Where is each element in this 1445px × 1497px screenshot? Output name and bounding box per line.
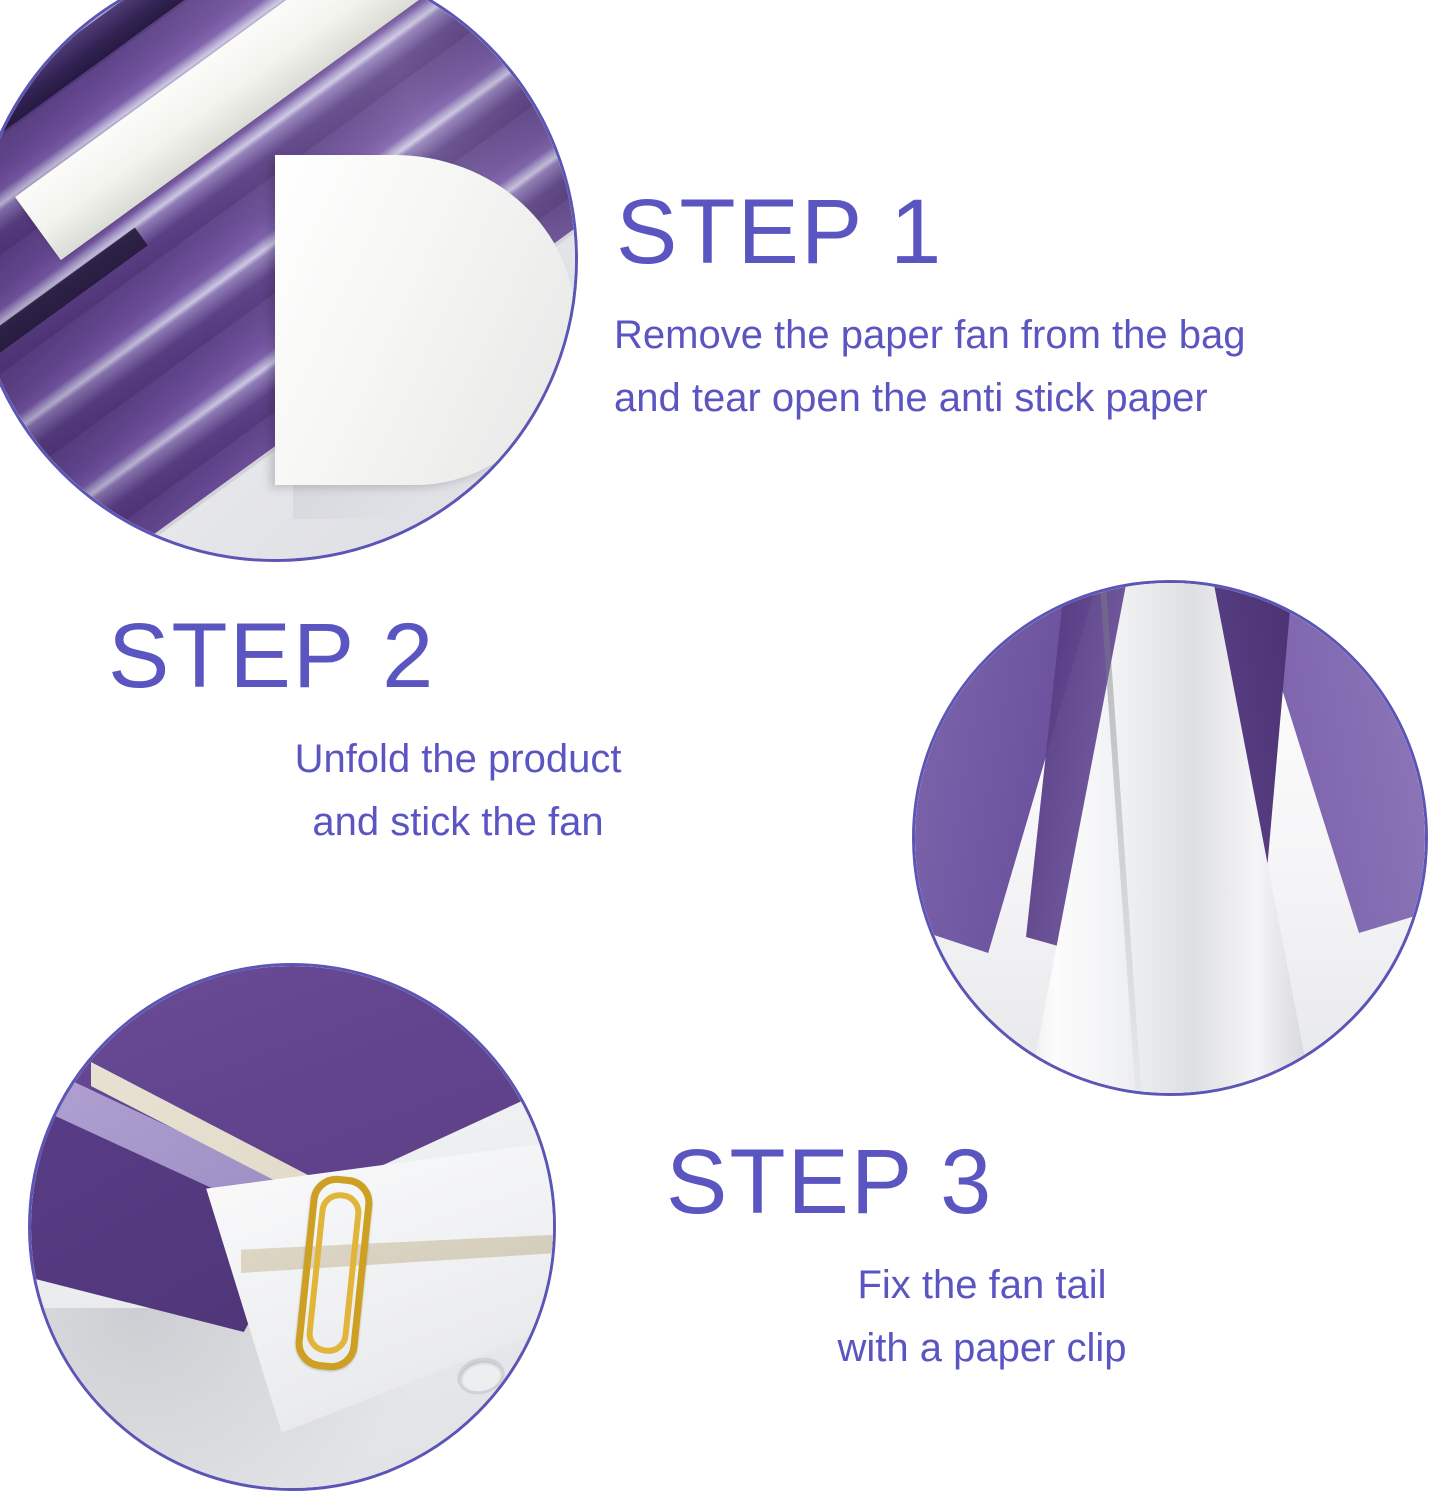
step-1-text-block: STEP 1 Remove the paper fan from the bag… bbox=[614, 186, 1245, 430]
step-2-text-block: STEP 2 Unfold the product and stick the … bbox=[108, 610, 808, 854]
infographic-page: STEP 1 Remove the paper fan from the bag… bbox=[0, 0, 1445, 1497]
step-3-description: Fix the fan tail with a paper clip bbox=[662, 1254, 1302, 1380]
step-1-photo bbox=[0, 0, 575, 559]
step-3-photo-circle bbox=[28, 963, 556, 1491]
step-2-line-2: and stick the fan bbox=[108, 791, 808, 854]
step-1-line-1: Remove the paper fan from the bag bbox=[614, 304, 1245, 367]
step-3-line-1: Fix the fan tail bbox=[662, 1254, 1302, 1317]
step-3-heading: STEP 3 bbox=[662, 1136, 1302, 1228]
step-3-text-block: STEP 3 Fix the fan tail with a paper cli… bbox=[662, 1136, 1302, 1380]
step-1-line-2: and tear open the anti stick paper bbox=[614, 367, 1245, 430]
step-1-photo-circle bbox=[0, 0, 578, 562]
step-2-photo-circle bbox=[912, 580, 1428, 1096]
step-3-photo bbox=[31, 966, 553, 1488]
step-2-heading: STEP 2 bbox=[108, 610, 808, 702]
step-3-line-2: with a paper clip bbox=[662, 1317, 1302, 1380]
step-2-line-1: Unfold the product bbox=[108, 728, 808, 791]
step-2-photo bbox=[915, 583, 1425, 1093]
step-2-description: Unfold the product and stick the fan bbox=[108, 728, 808, 854]
step-1-description: Remove the paper fan from the bag and te… bbox=[614, 304, 1245, 430]
step-1-heading: STEP 1 bbox=[614, 186, 1245, 278]
